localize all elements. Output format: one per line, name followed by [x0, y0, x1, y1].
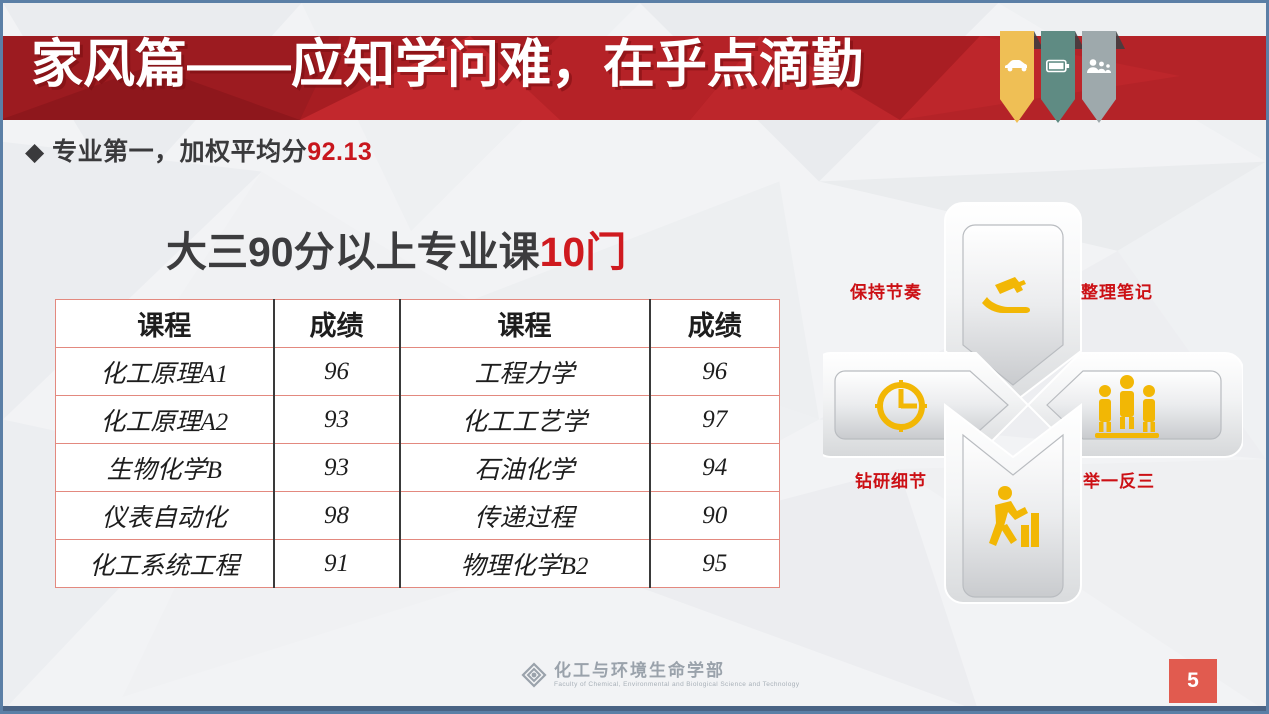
car-icon	[1000, 59, 1034, 77]
cell-score: 94	[650, 444, 780, 492]
cell-score: 90	[650, 492, 780, 540]
petal-bottom	[945, 405, 1081, 603]
petal-label-study-details: 钻研细节	[855, 467, 927, 492]
cell-score: 98	[274, 492, 400, 540]
slide-canvas: 家风篇——应知学问难，在乎点滴勤 ◆ 专业第一，加权平均分92.13 大三90分…	[0, 0, 1269, 714]
faculty-logo: 化工与环境生命学部 Faculty of Chemical, Environme…	[521, 662, 799, 689]
column-header-course-2: 课程	[400, 300, 650, 348]
bullet-text: ◆ 专业第一，加权平均分	[25, 138, 307, 166]
people-icon	[1082, 59, 1116, 79]
table-row: 生物化学B 93 石油化学 94	[56, 444, 780, 492]
faculty-emblem-icon	[521, 662, 547, 688]
section-heading-highlight: 10门	[540, 229, 627, 275]
courses-table-wrapper: 课程 成绩 课程 成绩 化工原理A1 96 工程力学 96 化工原理A2 93 …	[55, 299, 779, 588]
ribbon-body	[1000, 31, 1034, 123]
cell-score: 91	[274, 540, 400, 588]
cell-score: 93	[274, 444, 400, 492]
cell-score: 96	[274, 348, 400, 396]
pinwheel-shapes	[823, 185, 1243, 625]
cell-course: 石油化学	[400, 444, 650, 492]
section-heading: 大三90分以上专业课10门	[166, 218, 626, 278]
column-header-course-1: 课程	[56, 300, 274, 348]
faculty-name-cn: 化工与环境生命学部	[554, 662, 799, 680]
ribbon-people	[1082, 31, 1116, 123]
table-header-row: 课程 成绩 课程 成绩	[56, 300, 780, 348]
battery-icon	[1041, 59, 1075, 78]
cell-course: 化工原理A2	[56, 396, 274, 444]
page-title: 家风篇——应知学问难，在乎点滴勤	[31, 37, 863, 93]
faculty-name-en: Faculty of Chemical, Environmental and B…	[554, 682, 799, 689]
cell-course: 传递过程	[400, 492, 650, 540]
ribbon-battery	[1041, 31, 1075, 123]
cell-course: 仪表自动化	[56, 492, 274, 540]
cell-course: 生物化学B	[56, 444, 274, 492]
weighted-average-value: 92.13	[307, 138, 372, 166]
table-row: 化工系统工程 91 物理化学B2 95	[56, 540, 780, 588]
cell-course: 化工系统工程	[56, 540, 274, 588]
table-row: 化工原理A2 93 化工工艺学 97	[56, 396, 780, 444]
column-header-score-1: 成绩	[274, 300, 400, 348]
cell-course: 物理化学B2	[400, 540, 650, 588]
bottom-rule	[0, 706, 1269, 711]
pinwheel-diagram: 保持节奏 整理笔记 钻研细节 举一反三	[823, 185, 1243, 625]
column-header-score-2: 成绩	[650, 300, 780, 348]
cell-course: 工程力学	[400, 348, 650, 396]
petal-label-organize-notes: 整理笔记	[1081, 278, 1153, 303]
page-number-badge: 5	[1169, 659, 1217, 703]
bullet-line: ◆ 专业第一，加权平均分92.13	[25, 132, 372, 168]
section-heading-text: 大三90分以上专业课	[166, 229, 540, 275]
ribbon-car	[1000, 31, 1034, 123]
cell-score: 96	[650, 348, 780, 396]
cell-score: 97	[650, 396, 780, 444]
cell-course: 化工工艺学	[400, 396, 650, 444]
petal-label-infer-more: 举一反三	[1083, 467, 1155, 492]
table-row: 化工原理A1 96 工程力学 96	[56, 348, 780, 396]
cell-score: 93	[274, 396, 400, 444]
cell-score: 95	[650, 540, 780, 588]
cell-course: 化工原理A1	[56, 348, 274, 396]
petal-label-keep-rhythm: 保持节奏	[850, 278, 922, 303]
courses-table: 课程 成绩 课程 成绩 化工原理A1 96 工程力学 96 化工原理A2 93 …	[55, 299, 780, 588]
table-row: 仪表自动化 98 传递过程 90	[56, 492, 780, 540]
